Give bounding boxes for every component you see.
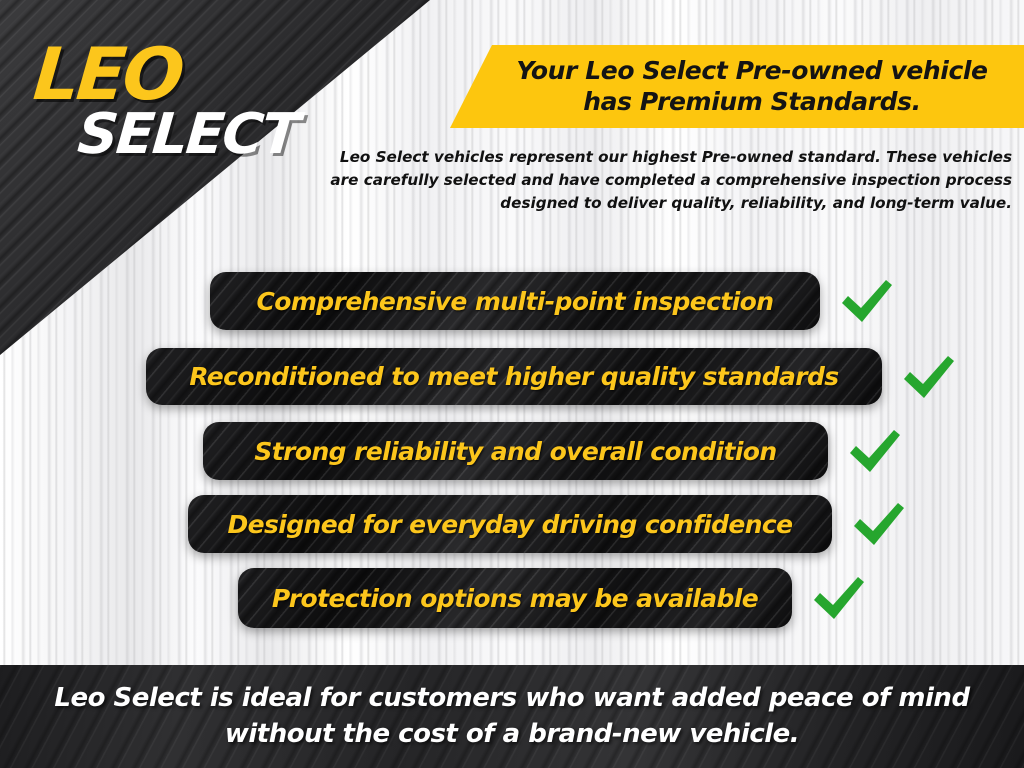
feature-pill: Designed for everyday driving confidence	[188, 495, 832, 553]
feature-pill: Protection options may be available	[238, 568, 792, 628]
footer-tagline: Leo Select is ideal for customers who wa…	[0, 681, 1024, 751]
footer-bar: Leo Select is ideal for customers who wa…	[0, 665, 1024, 768]
feature-label: Comprehensive multi-point inspection	[257, 287, 774, 316]
logo-leo-text: LEO	[31, 44, 300, 104]
feature-pill: Reconditioned to meet higher quality sta…	[146, 348, 882, 405]
feature-label: Designed for everyday driving confidence	[227, 510, 792, 539]
feature-label: Strong reliability and overall condition	[254, 437, 776, 466]
check-icon	[850, 499, 906, 549]
check-icon	[810, 573, 866, 623]
feature-pill: Comprehensive multi-point inspection	[210, 272, 820, 330]
brand-logo: LEO SELECT	[34, 44, 298, 162]
feature-row: Protection options may be available	[238, 568, 958, 628]
feature-row: Strong reliability and overall condition	[203, 422, 953, 480]
logo-select-text: SELECT	[76, 108, 300, 161]
feature-pill: Strong reliability and overall condition	[203, 422, 828, 480]
check-icon	[900, 352, 956, 402]
feature-label: Protection options may be available	[272, 584, 758, 613]
feature-row: Designed for everyday driving confidence	[188, 495, 948, 553]
check-icon	[846, 426, 902, 476]
promotional-poster: LEO SELECT Your Leo Select Pre-owned veh…	[0, 0, 1024, 768]
check-icon	[838, 276, 894, 326]
feature-row: Reconditioned to meet higher quality sta…	[146, 348, 956, 405]
feature-label: Reconditioned to meet higher quality sta…	[189, 362, 838, 391]
feature-row: Comprehensive multi-point inspection	[210, 272, 950, 330]
